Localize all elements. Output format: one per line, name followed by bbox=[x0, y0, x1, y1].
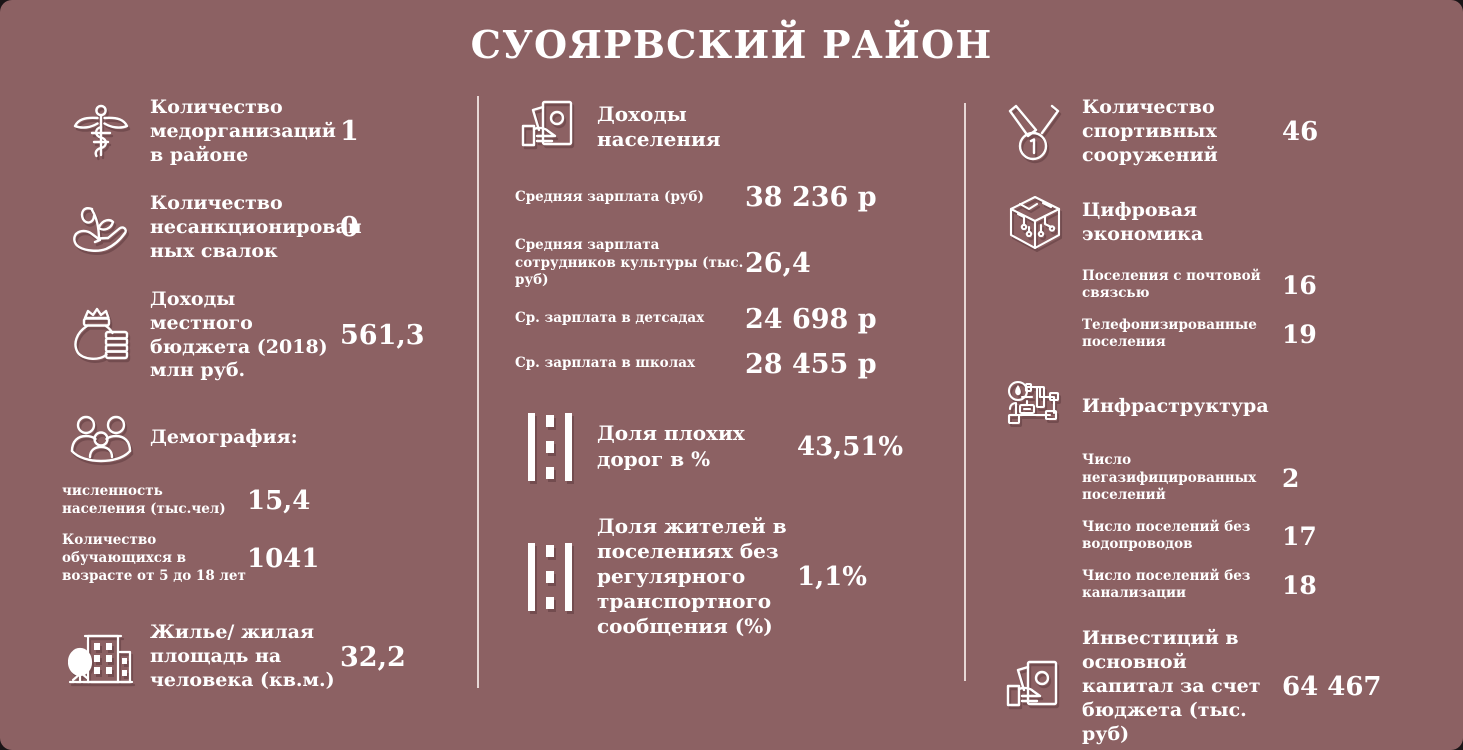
stat-value: 2 bbox=[1282, 464, 1299, 493]
group-demography-header: Демография: bbox=[62, 407, 462, 469]
stat-label: Количество обучающихся в возрасте от 5 д… bbox=[62, 532, 247, 585]
left-column: Количество медорганизаций в районе 1 Кол… bbox=[62, 96, 462, 693]
spacer bbox=[62, 585, 462, 621]
medal-icon bbox=[1000, 101, 1070, 163]
stat-label: Доля жителей в поселениях без регулярног… bbox=[597, 514, 797, 640]
stat-label: Средняя зарплата сотрудников культуры (т… bbox=[515, 237, 745, 290]
group-heading: Демография: bbox=[150, 426, 340, 450]
stat-value: 1 bbox=[340, 116, 359, 147]
spacer bbox=[62, 469, 462, 483]
money-bag-icon bbox=[62, 305, 140, 367]
stat-value: 32,2 bbox=[340, 642, 406, 673]
family-group-icon bbox=[62, 407, 140, 469]
stat-label: Число поселений без канализации bbox=[1082, 568, 1282, 603]
page-title: СУОЯРВСКИЙ РАЙОН bbox=[0, 22, 1463, 67]
group-infrastructure: Инфраструктура Число негазифицированных … bbox=[1000, 376, 1440, 603]
buildings-tree-icon bbox=[62, 626, 140, 688]
stat-label: Инвестиций в основной капитал за счет бю… bbox=[1082, 627, 1282, 747]
stat-telephone-settlements: Телефонизированные поселения 19 bbox=[1082, 317, 1440, 352]
stat-medical-organizations: Количество медорганизаций в районе 1 bbox=[62, 96, 462, 168]
stat-local-budget: Доходы местного бюджета (2018) млн руб. … bbox=[62, 288, 462, 384]
stat-kindergarten-salary: Ср. зарплата в детсадах 24 698 р bbox=[515, 304, 955, 335]
stat-bad-roads: Доля плохих дорог в % 43,51% bbox=[515, 416, 955, 478]
group-heading: Цифровая экономика bbox=[1082, 199, 1282, 247]
spacer bbox=[62, 518, 462, 532]
stat-value: 17 bbox=[1282, 522, 1317, 551]
stat-label: Доля плохих дорог в % bbox=[597, 421, 797, 471]
spacer bbox=[1000, 603, 1440, 627]
stat-no-gas-settlements: Число негазифицированных поселений 2 bbox=[1082, 452, 1440, 505]
road-icon bbox=[515, 546, 585, 608]
stat-capital-investments: Инвестиций в основной капитал за счет бю… bbox=[1000, 627, 1440, 747]
road-icon bbox=[515, 416, 585, 478]
stat-label: Ср. зарплата в детсадах bbox=[515, 310, 745, 328]
spacer bbox=[1000, 168, 1440, 192]
stat-value: 15,4 bbox=[247, 486, 310, 516]
spacer bbox=[62, 383, 462, 407]
group-infrastructure-header: Инфраструктура bbox=[1000, 376, 1440, 438]
spacer bbox=[1000, 352, 1440, 376]
spacer bbox=[515, 380, 955, 416]
stat-value: 46 bbox=[1282, 117, 1318, 147]
column-divider-left bbox=[477, 96, 479, 688]
spacer bbox=[62, 168, 462, 192]
stat-value: 43,51% bbox=[797, 432, 903, 462]
column-divider-right bbox=[964, 103, 966, 681]
spacer bbox=[1000, 505, 1440, 519]
spacer bbox=[1000, 303, 1440, 317]
stat-average-salary: Средняя зарплата (руб) 38 236 р bbox=[515, 182, 955, 213]
stat-population: численность населения (тыс.чел) 15,4 bbox=[62, 483, 462, 518]
stat-postal-settlements: Поселения с почтовой связсью 16 bbox=[1082, 268, 1440, 303]
stat-illegal-dumps: Количество несанкционирован ных свалок 0 bbox=[62, 192, 462, 264]
spacer bbox=[515, 478, 955, 514]
stat-value: 64 467 bbox=[1282, 672, 1382, 702]
stat-value: 18 bbox=[1282, 571, 1317, 600]
group-digital-header: Цифровая экономика bbox=[1000, 192, 1440, 254]
stat-label: Ср. зарплата в школах bbox=[515, 355, 745, 373]
hand-money-icon bbox=[515, 96, 585, 158]
hand-plant-icon bbox=[62, 197, 140, 259]
spacer bbox=[1000, 438, 1440, 452]
stat-value: 16 bbox=[1282, 271, 1317, 300]
stat-value: 19 bbox=[1282, 320, 1317, 349]
group-population-income: Доходы населения Средняя зарплата (руб) … bbox=[515, 96, 955, 380]
stat-label: Число негазифицированных поселений bbox=[1082, 452, 1282, 505]
stat-label: Количество медорганизаций в районе bbox=[150, 96, 340, 168]
spacer bbox=[515, 290, 955, 304]
group-heading: Доходы населения bbox=[597, 102, 797, 152]
stat-label: Жилье/ жилая площадь на человека (кв.м.) bbox=[150, 621, 340, 693]
stat-label: Поселения с почтовой связсью bbox=[1082, 268, 1282, 303]
stat-label: Телефонизированные поселения bbox=[1082, 317, 1282, 352]
stat-value: 28 455 р bbox=[745, 349, 877, 380]
group-heading: Инфраструктура bbox=[1082, 395, 1282, 419]
group-income-header: Доходы населения bbox=[515, 96, 955, 158]
stat-label: Средняя зарплата (руб) bbox=[515, 189, 745, 207]
digital-cube-icon bbox=[1000, 192, 1070, 254]
spacer bbox=[515, 158, 955, 182]
spacer bbox=[1000, 254, 1440, 268]
stat-value: 0 bbox=[340, 212, 359, 243]
group-demography: Демография: численность населения (тыс.ч… bbox=[62, 407, 462, 585]
stat-value: 38 236 р bbox=[745, 182, 877, 213]
infographic-poster: СУОЯРВСКИЙ РАЙОН Количество медорганизац… bbox=[0, 0, 1463, 750]
spacer bbox=[62, 264, 462, 288]
stat-value: 561,3 bbox=[340, 320, 425, 351]
stat-sport-facilities: Количество спортивных сооружений 46 bbox=[1000, 96, 1440, 168]
stat-no-water-settlements: Число поселений без водопроводов 17 bbox=[1082, 519, 1440, 554]
stat-value: 24 698 р bbox=[745, 304, 877, 335]
stat-culture-salary: Средняя зарплата сотрудников культуры (т… bbox=[515, 237, 955, 290]
stat-label: Количество спортивных сооружений bbox=[1082, 96, 1282, 168]
stat-value: 1,1% bbox=[797, 562, 867, 592]
stat-value: 26,4 bbox=[745, 248, 811, 279]
middle-column: Доходы населения Средняя зарплата (руб) … bbox=[515, 96, 955, 640]
spacer bbox=[515, 335, 955, 349]
stat-no-sewerage-settlements: Число поселений без канализации 18 bbox=[1082, 568, 1440, 603]
stat-no-regular-transport: Доля жителей в поселениях без регулярног… bbox=[515, 514, 955, 640]
hand-money-icon bbox=[1000, 656, 1070, 718]
stat-value: 1041 bbox=[247, 544, 319, 574]
stat-students: Количество обучающихся в возрасте от 5 д… bbox=[62, 532, 462, 585]
right-column: Количество спортивных сооружений 46 bbox=[1000, 96, 1440, 747]
stat-school-salary: Ср. зарплата в школах 28 455 р bbox=[515, 349, 955, 380]
stat-housing-area: Жилье/ жилая площадь на человека (кв.м.)… bbox=[62, 621, 462, 693]
pipe-valve-icon bbox=[1000, 376, 1070, 438]
stat-label: Доходы местного бюджета (2018) млн руб. bbox=[150, 288, 340, 384]
stat-label: численность населения (тыс.чел) bbox=[62, 483, 247, 518]
spacer bbox=[515, 213, 955, 237]
group-digital-economy: Цифровая экономика Поселения с почтовой … bbox=[1000, 192, 1440, 352]
caduceus-icon bbox=[62, 101, 140, 163]
spacer bbox=[1000, 554, 1440, 568]
stat-label: Число поселений без водопроводов bbox=[1082, 519, 1282, 554]
stat-label: Количество несанкционирован ных свалок bbox=[150, 192, 340, 264]
